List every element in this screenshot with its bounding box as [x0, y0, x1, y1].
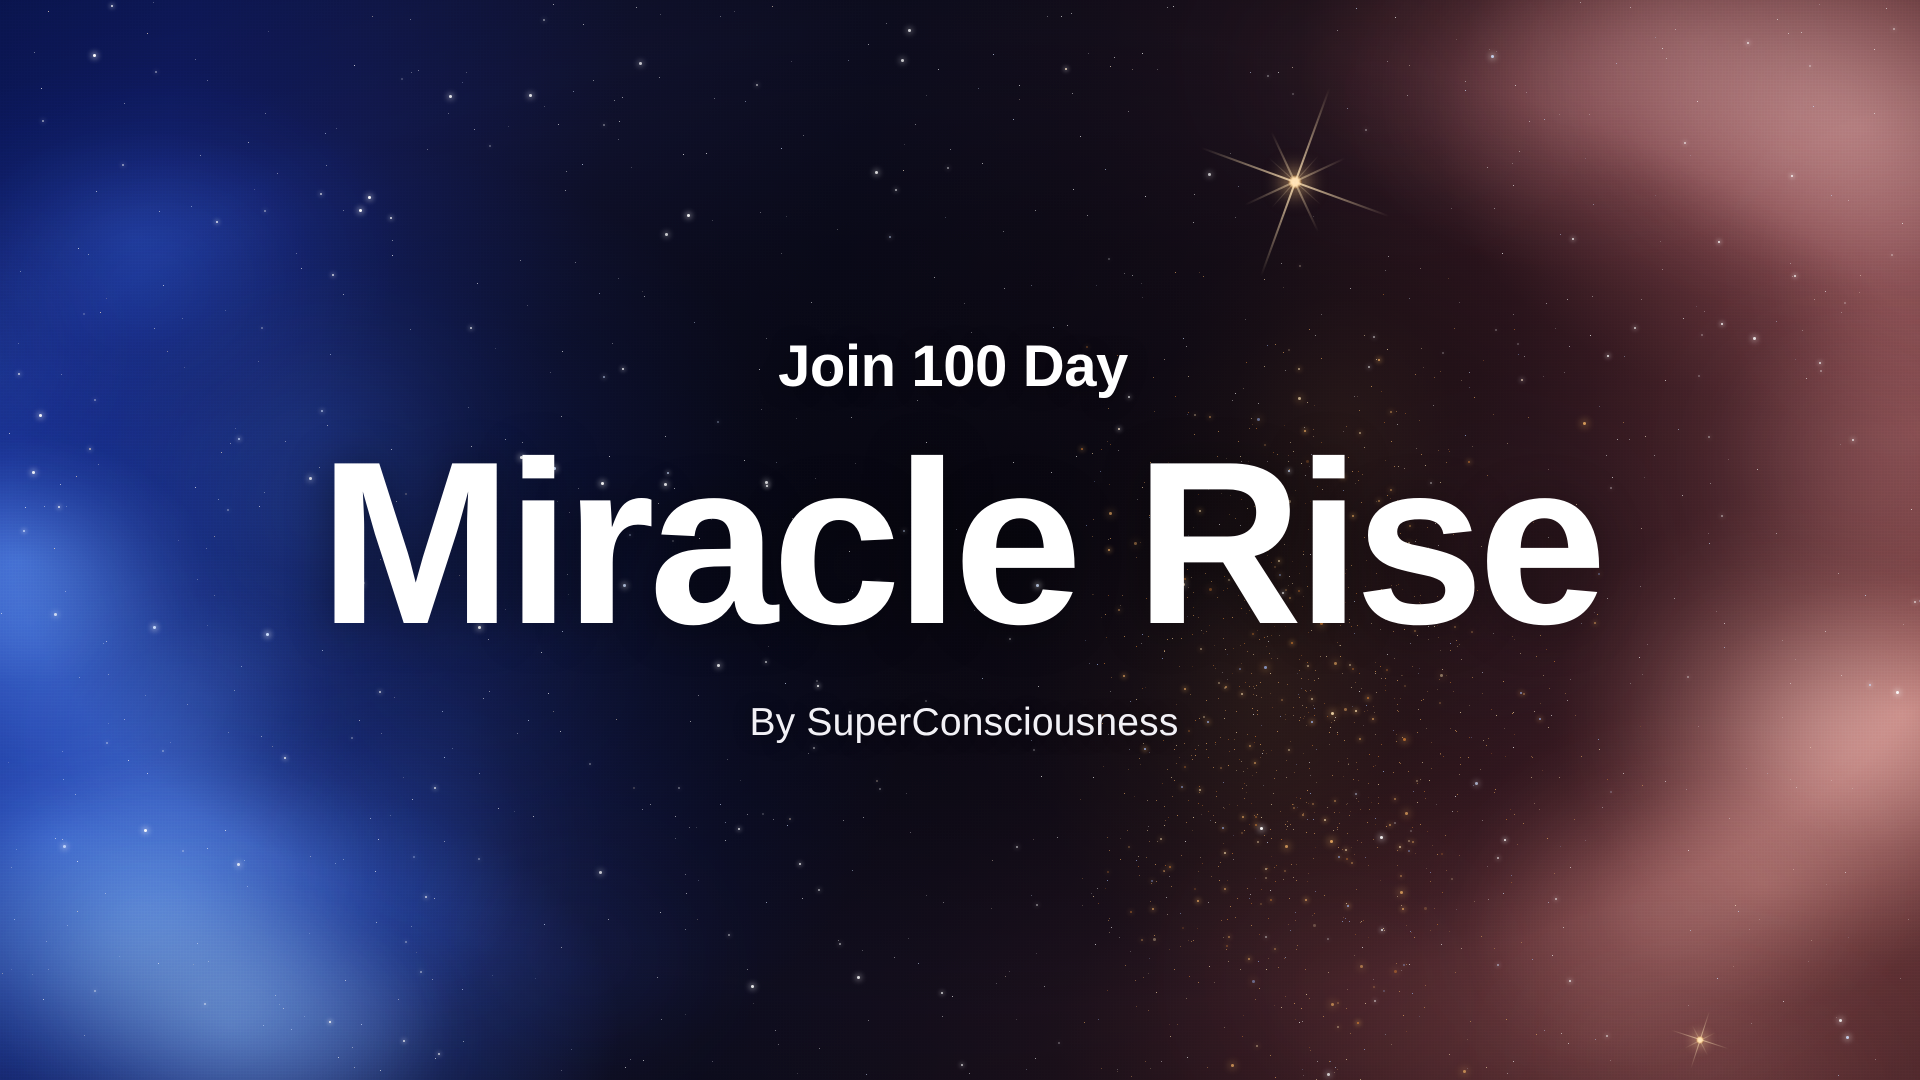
page-title: Miracle Rise — [319, 426, 1601, 663]
eyebrow-text: Join 100 Day — [778, 338, 1128, 396]
poster-text-block: Join 100 Day Miracle Rise By SuperConsci… — [0, 0, 1920, 1080]
byline-text: By SuperConsciousness — [749, 703, 1178, 742]
poster-canvas: Join 100 Day Miracle Rise By SuperConsci… — [0, 0, 1920, 1080]
